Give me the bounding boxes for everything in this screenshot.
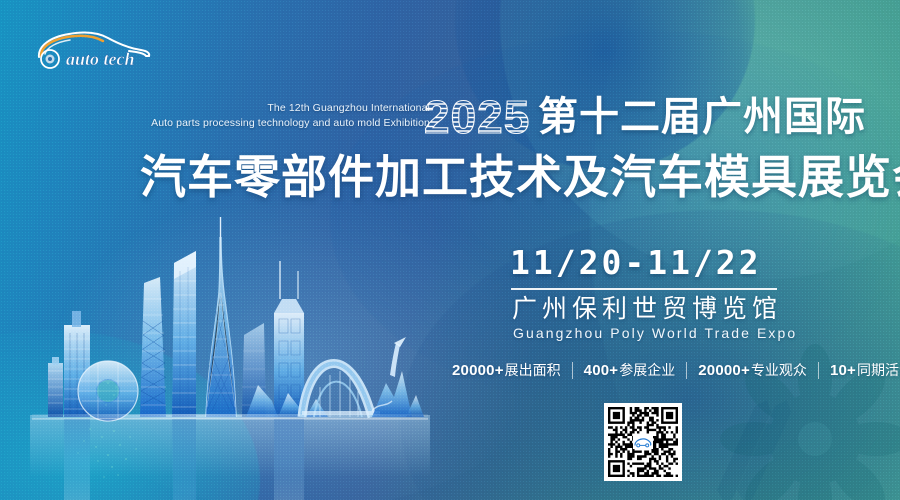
stat-label: 专业观众 <box>751 360 807 380</box>
stat-separator <box>818 362 819 379</box>
stat-number: 10+ <box>830 362 856 379</box>
stat-item: 20000+专业观众 <box>698 360 807 380</box>
stat-number: 400+ <box>584 362 619 379</box>
stats-row: 20000+展出面积400+参展企业20000+专业观众10+同期活动 <box>452 360 900 380</box>
stat-label: 展出面积 <box>505 360 561 380</box>
qr-code-center-logo <box>633 435 653 449</box>
year-2025-outline: 2025 <box>424 93 530 141</box>
year-2025: 2025 2025 <box>424 93 536 141</box>
eyebrow-text: The 12th Guangzhou International Auto pa… <box>150 101 430 131</box>
stat-label: 参展企业 <box>619 360 675 380</box>
auto-tech-logo[interactable]: auto tech <box>30 26 152 74</box>
stat-separator <box>572 362 573 379</box>
date-divider-rule <box>511 288 777 290</box>
auto-tech-logo-text: auto tech <box>66 49 135 69</box>
title-chinese-line-2: 汽车零部件加工技术及汽车模具展览会 <box>140 152 900 202</box>
title-chinese-line-1: 第十二届广州国际 <box>538 96 866 138</box>
stat-item: 10+同期活动 <box>830 360 900 380</box>
eyebrow-line-2: Auto parts processing technology and aut… <box>150 116 430 131</box>
stat-item: 400+参展企业 <box>584 360 676 380</box>
venue-name-chinese: 广州保利世贸博览馆 <box>512 294 782 324</box>
eyebrow-line-1: The 12th Guangzhou International <box>150 101 430 116</box>
stat-label: 同期活动 <box>857 360 900 380</box>
stat-item: 20000+展出面积 <box>452 360 561 380</box>
stat-separator <box>686 362 687 379</box>
exhibition-banner: auto tech The 12th Guangzhou Internation… <box>0 0 900 500</box>
stat-number: 20000+ <box>452 362 504 379</box>
qr-code[interactable] <box>604 403 682 481</box>
venue-name-english: Guangzhou Poly World Trade Expo <box>513 324 797 342</box>
stat-number: 20000+ <box>698 362 750 379</box>
event-date: 11/20-11/22 <box>510 245 762 281</box>
ribbon-decoration <box>715 386 805 500</box>
